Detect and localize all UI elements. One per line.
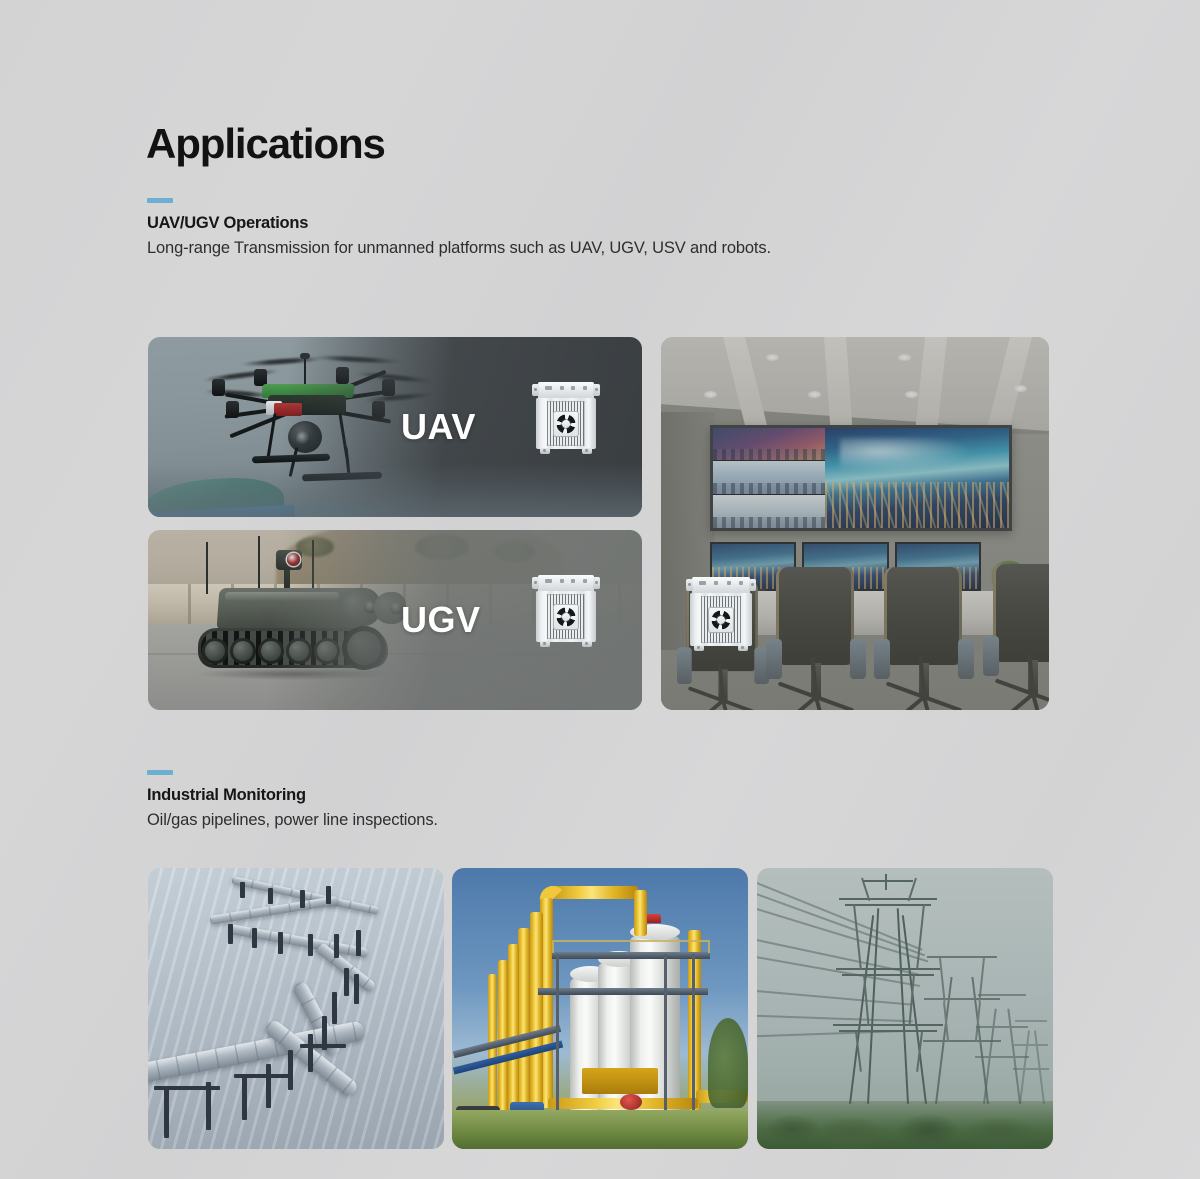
- control-room-scene-image: [661, 337, 1049, 710]
- page-title: Applications: [146, 122, 385, 166]
- gas-plant-thumb[interactable]: [452, 868, 748, 1149]
- accent-dash-icon: [147, 198, 173, 203]
- radio-module-icon: [536, 382, 596, 454]
- ugv-card-label: UGV: [401, 599, 481, 641]
- accent-dash-icon: [147, 770, 173, 775]
- gas-plant-image: [452, 868, 748, 1149]
- radio-module-icon: [536, 575, 596, 647]
- pipeline-thumb[interactable]: [148, 868, 444, 1149]
- power-line-thumb[interactable]: [757, 868, 1053, 1149]
- control-room-card[interactable]: [661, 337, 1049, 710]
- section-uav-ugv-header: UAV/UGV Operations Long-range Transmissi…: [147, 198, 771, 258]
- section-industrial-header: Industrial Monitoring Oil/gas pipelines,…: [147, 770, 438, 830]
- applications-page: Applications UAV/UGV Operations Long-ran…: [0, 0, 1200, 1179]
- section-description-industrial: Oil/gas pipelines, power line inspection…: [147, 811, 438, 830]
- power-line-image: [757, 868, 1053, 1149]
- radio-module-icon: [690, 577, 752, 651]
- uav-card-label: UAV: [401, 406, 476, 448]
- section-title-industrial: Industrial Monitoring: [147, 786, 438, 805]
- pipeline-image: [148, 868, 444, 1149]
- section-description-uav-ugv: Long-range Transmission for unmanned pla…: [147, 239, 771, 258]
- section-title-uav-ugv: UAV/UGV Operations: [147, 214, 771, 233]
